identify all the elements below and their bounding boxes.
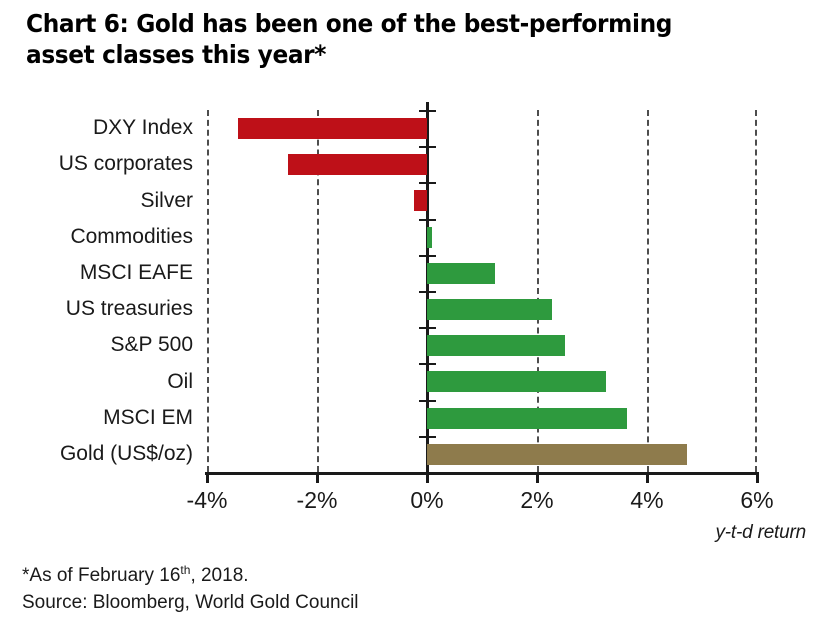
- x-axis-tick-label: -2%: [272, 487, 362, 514]
- x-axis-tick-label: 4%: [602, 487, 692, 514]
- bar: [427, 371, 606, 392]
- x-axis-tick: [426, 472, 429, 483]
- category-label: Commodities: [0, 225, 193, 249]
- bar-row: [207, 110, 757, 146]
- category-label: US corporates: [0, 152, 193, 176]
- bar-row: [207, 146, 757, 182]
- category-label: DXY Index: [0, 116, 193, 140]
- footnote-asof-suffix: , 2018.: [190, 565, 248, 586]
- bar: [238, 118, 427, 139]
- chart-container: Chart 6: Gold has been one of the best-p…: [0, 0, 828, 618]
- bar: [414, 190, 427, 211]
- x-axis-tick-label: 2%: [492, 487, 582, 514]
- category-label: Oil: [0, 370, 193, 394]
- category-tick: [419, 363, 436, 365]
- x-axis-tick: [206, 472, 209, 483]
- bar-row: [207, 363, 757, 399]
- category-label: Silver: [0, 189, 193, 213]
- bar-row: [207, 219, 757, 255]
- category-label: US treasuries: [0, 297, 193, 321]
- bar-row: [207, 255, 757, 291]
- bar-row: [207, 327, 757, 363]
- category-tick: [419, 255, 436, 257]
- category-tick: [419, 146, 436, 148]
- bar: [427, 263, 495, 284]
- x-axis-tick: [536, 472, 539, 483]
- category-label: S&P 500: [0, 333, 193, 357]
- bar: [427, 335, 565, 356]
- bar: [427, 444, 687, 465]
- x-axis-tick-label: 0%: [382, 487, 472, 514]
- bar-row: [207, 291, 757, 327]
- bar: [427, 227, 432, 248]
- bar-row: [207, 400, 757, 436]
- category-label: Gold (US$/oz): [0, 442, 193, 466]
- bar-row: [207, 182, 757, 218]
- category-tick: [419, 327, 436, 329]
- page-title: Chart 6: Gold has been one of the best-p…: [26, 8, 733, 70]
- x-axis-tick: [316, 472, 319, 483]
- footnote-source: Source: Bloomberg, World Gold Council: [22, 590, 359, 615]
- category-tick: [419, 182, 436, 184]
- category-label: MSCI EAFE: [0, 261, 193, 285]
- category-tick: [419, 219, 436, 221]
- x-axis-line: [205, 472, 759, 475]
- x-axis-tick: [756, 472, 759, 483]
- x-axis-caption: y-t-d return: [715, 522, 806, 544]
- bar: [288, 154, 427, 175]
- x-axis-tick-label: 6%: [712, 487, 802, 514]
- category-tick: [419, 400, 436, 402]
- footnote-asof-superscript: th: [180, 563, 190, 577]
- bar: [427, 408, 627, 429]
- footnote-asof: *As of February 16th, 2018.: [22, 558, 249, 588]
- category-tick: [419, 436, 436, 438]
- footnote-asof-prefix: *As of February 16: [22, 565, 180, 586]
- plot-area: [207, 110, 757, 472]
- bar-row: [207, 436, 757, 472]
- category-label: MSCI EM: [0, 406, 193, 430]
- x-axis-tick: [646, 472, 649, 483]
- bar: [427, 299, 552, 320]
- category-tick: [419, 110, 436, 112]
- x-axis-tick-label: -4%: [162, 487, 252, 514]
- category-tick: [419, 291, 436, 293]
